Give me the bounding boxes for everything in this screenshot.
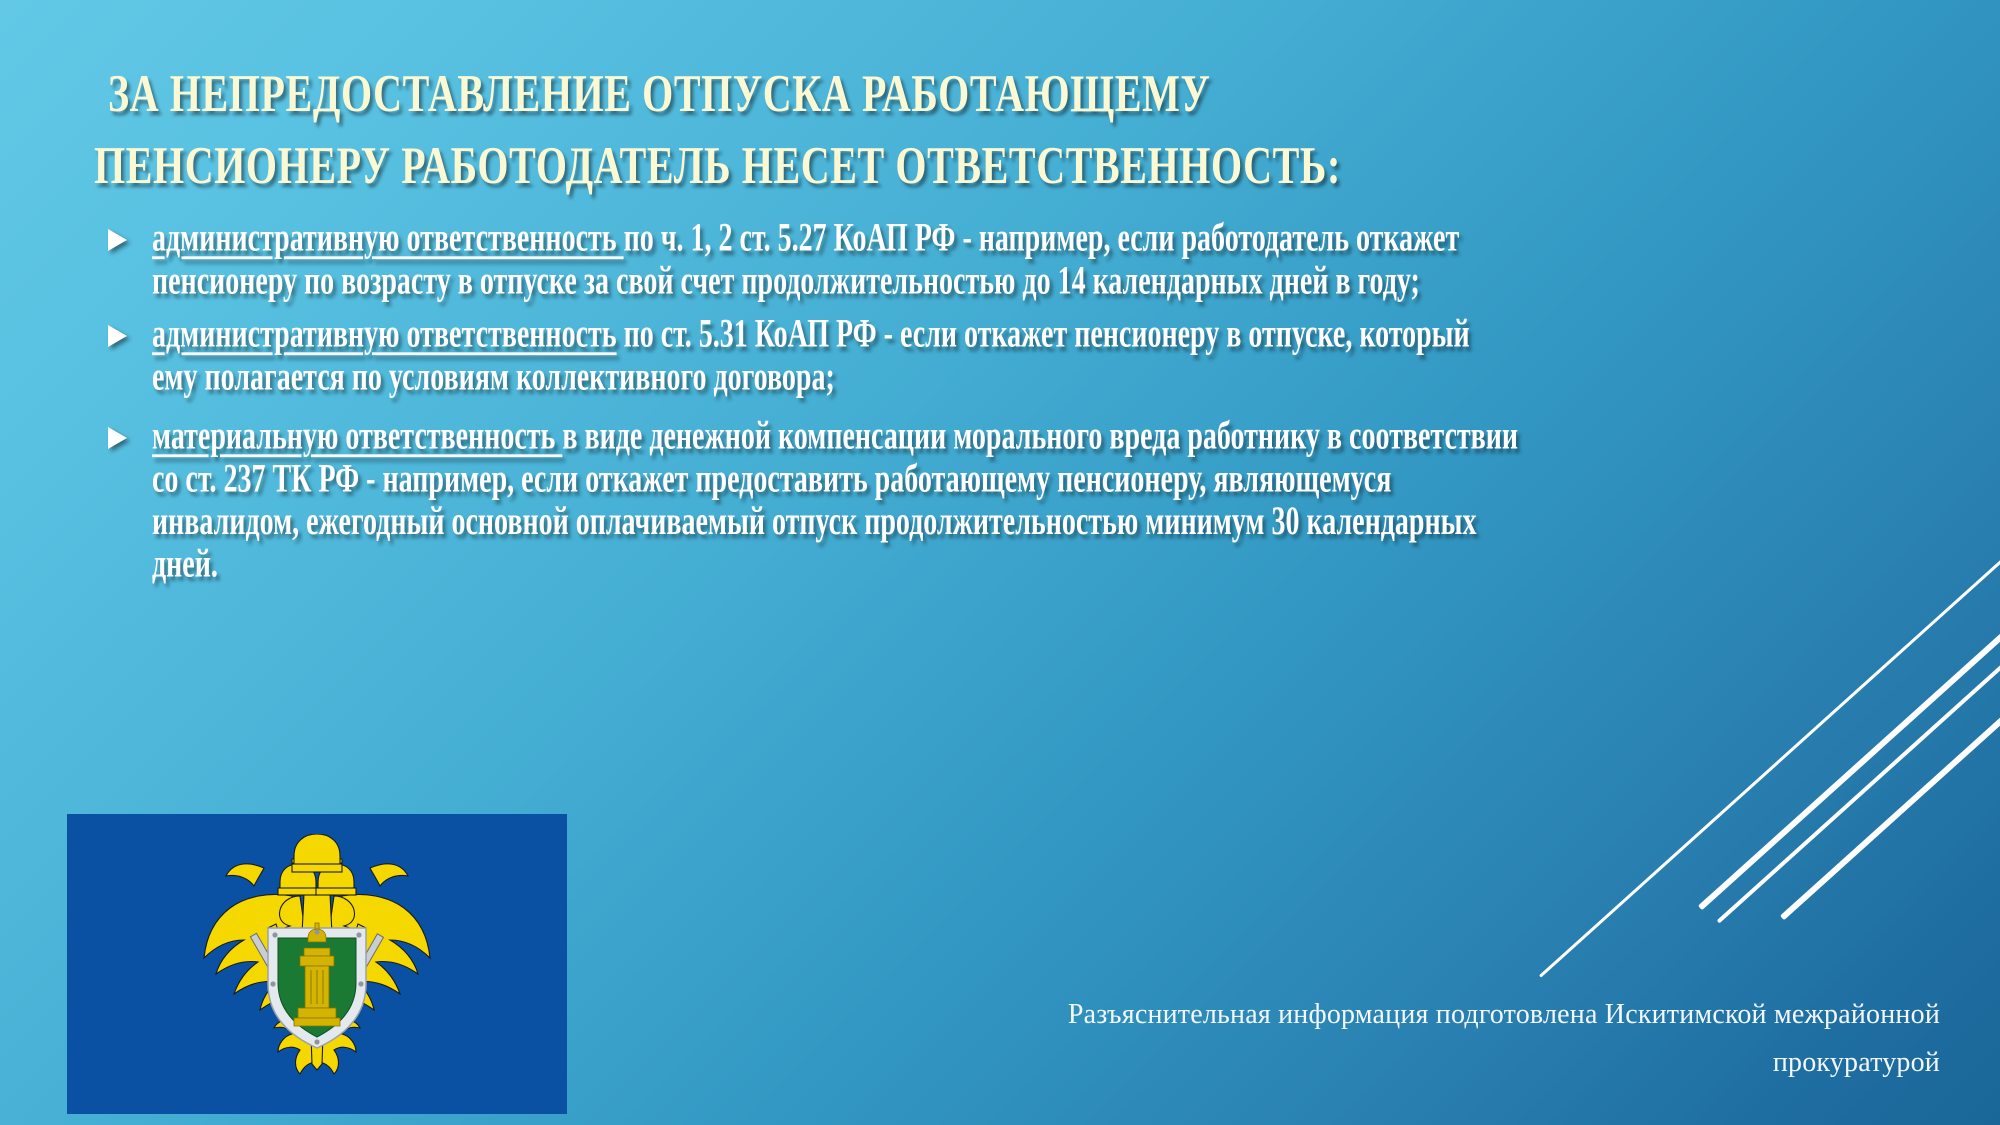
list-item: материальную ответственность в виде дене… [100, 416, 1520, 536]
title-line-2: ПЕНСИОНЕРУ РАБОТОДАТЕЛЬ НЕСЕТ ОТВЕТСТВЕН… [94, 130, 1508, 201]
bullet-lead-3: материальную ответственность [152, 415, 562, 459]
bullet-text-2: административную ответственность по ст. … [152, 314, 1520, 399]
emblem-panel [67, 814, 567, 1114]
triangle-right-icon [108, 427, 127, 449]
list-item: административную ответственность по ст. … [100, 314, 1520, 374]
streak-line-3 [1717, 633, 2000, 924]
title-line-1: ЗА НЕПРЕДОСТАВЛЕНИЕ ОТПУСКА РАБОТАЮЩЕМУ [108, 58, 1508, 129]
list-item: административную ответственность по ч. 1… [100, 218, 1520, 278]
streak-line-2 [1698, 591, 2000, 910]
triangle-right-icon [108, 325, 127, 347]
bullet-text-1: административную ответственность по ч. 1… [152, 218, 1520, 303]
russian-prosecutor-office-emblem-icon [192, 834, 442, 1094]
slide-title: ЗА НЕПРЕДОСТАВЛЕНИЕ ОТПУСКА РАБОТАЮЩЕМУ … [108, 58, 1508, 184]
streak-line-1 [1539, 547, 2000, 977]
footer-note: Разъяснительная информация подготовлена … [960, 991, 1940, 1087]
presentation-slide: ЗА НЕПРЕДОСТАВЛЕНИЕ ОТПУСКА РАБОТАЮЩЕМУ … [0, 0, 2000, 1125]
bullet-text-3: материальную ответственность в виде дене… [152, 416, 1520, 586]
streak-line-4 [1780, 655, 2000, 920]
bullet-lead-2: административную ответственность [152, 313, 617, 357]
triangle-right-icon [108, 229, 127, 251]
bullet-list: административную ответственность по ч. 1… [100, 218, 1520, 560]
bullet-lead-1: административную ответственность [152, 217, 624, 261]
